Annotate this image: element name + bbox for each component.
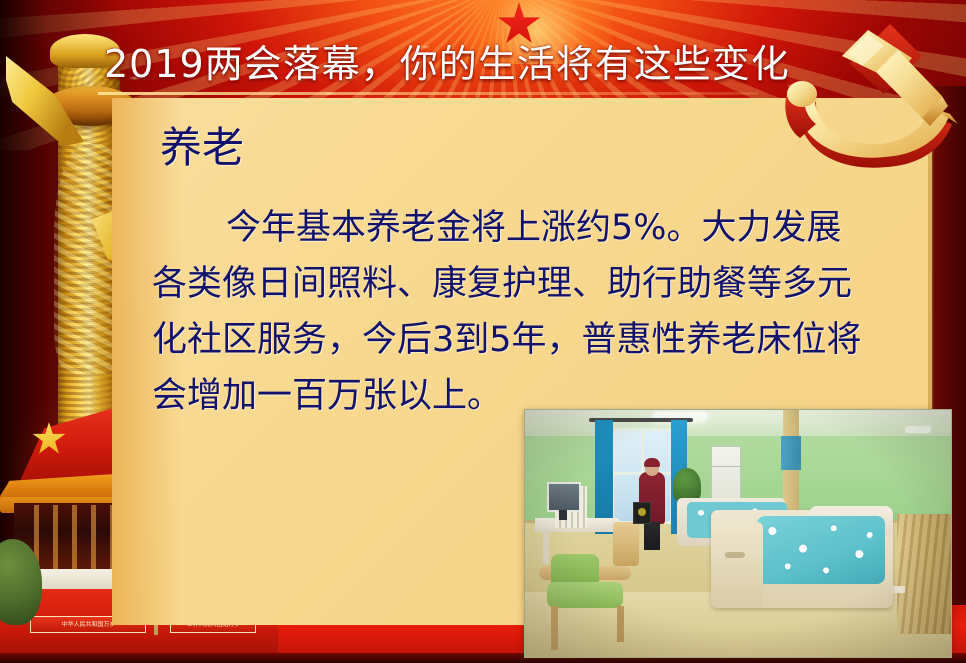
- title-underline: [98, 92, 758, 95]
- body-line: 今年基本养老金将上涨约5%。大力发展: [152, 200, 932, 256]
- slide-canvas: 中华人民共和国万岁 世界人民大团结万岁: [0, 0, 966, 663]
- body-text-block: 今年基本养老金将上涨约5%。大力发展 各类像日间照料、康复护理、助行助餐等多元 …: [152, 200, 932, 424]
- section-heading: 养老: [160, 124, 244, 172]
- hammer-and-sickle-icon: [772, 6, 966, 184]
- photo-vignette: [525, 410, 952, 658]
- nursing-home-photo: [524, 409, 952, 658]
- page-title: 2019两会落幕，你的生活将有这些变化: [104, 44, 804, 86]
- body-line: 各类像日间照料、康复护理、助行助餐等多元: [152, 256, 932, 312]
- gate-banner-left-text: 中华人民共和国万岁: [61, 622, 115, 628]
- body-line: 化社区服务，今后3到5年，普惠性养老床位将: [152, 312, 932, 368]
